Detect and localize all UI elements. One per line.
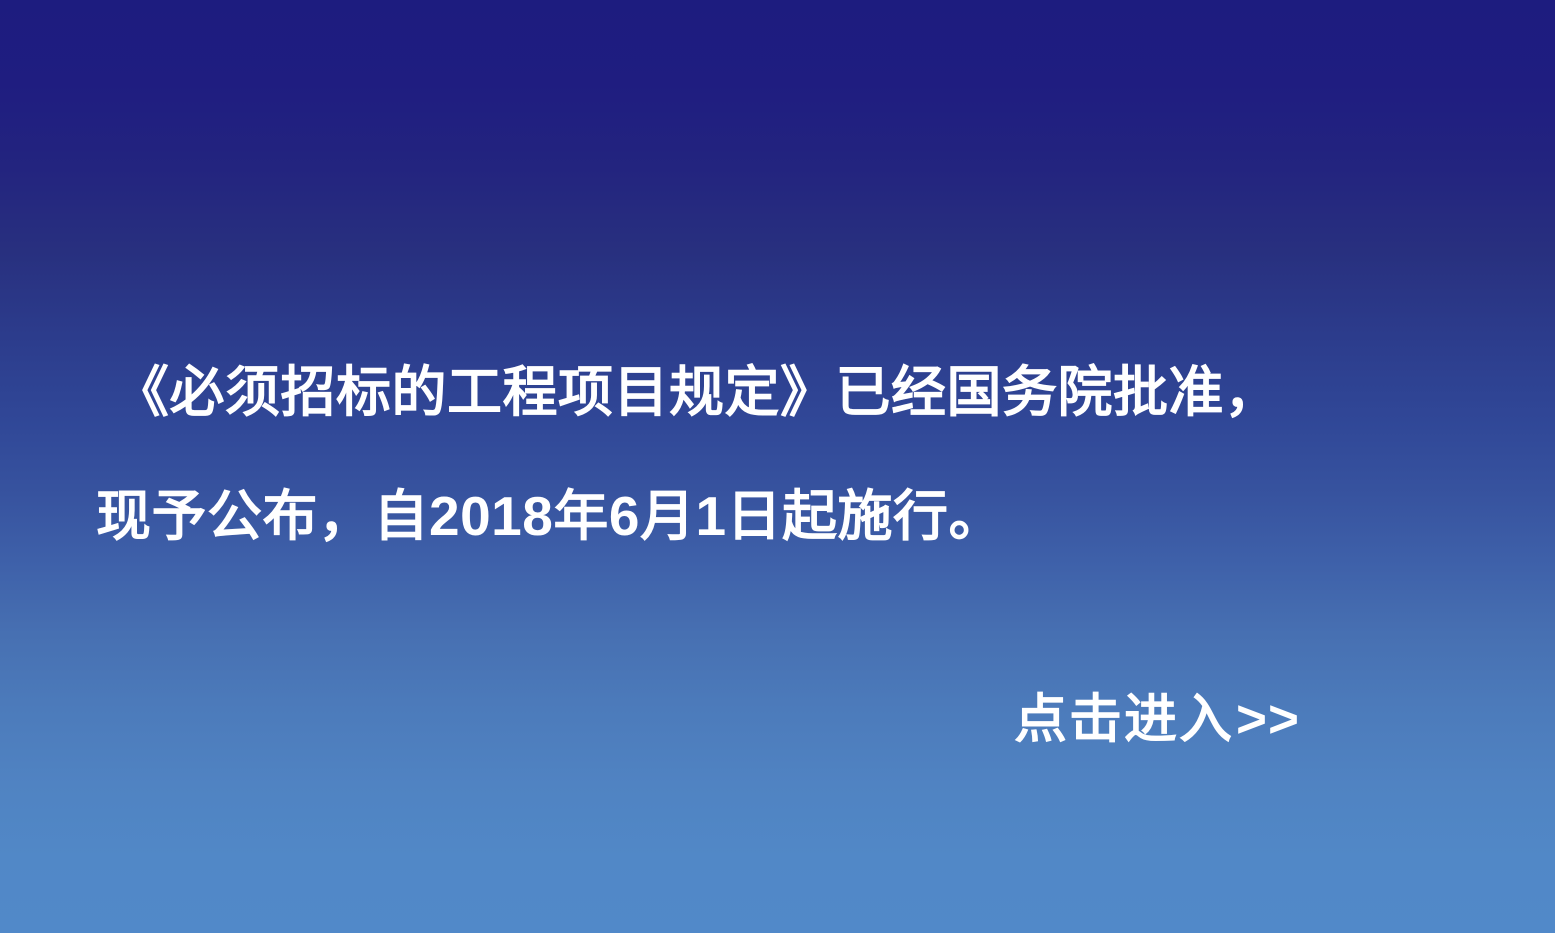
double-chevron-right-icon: >> bbox=[1234, 690, 1300, 749]
headline-line-2: 现予公布，自2018年6月1日起施行。 bbox=[0, 454, 1555, 578]
headline-line-1: 《必须招标的工程项目规定》已经国务院批准， bbox=[0, 330, 1555, 454]
enter-link-label: 点击进入 bbox=[1014, 690, 1234, 749]
announcement-banner: 《必须招标的工程项目规定》已经国务院批准， 现予公布，自2018年6月1日起施行… bbox=[0, 0, 1555, 933]
cta-row: 点击进入>> bbox=[0, 686, 1555, 754]
enter-link[interactable]: 点击进入>> bbox=[1014, 686, 1300, 754]
headline-block: 《必须招标的工程项目规定》已经国务院批准， 现予公布，自2018年6月1日起施行… bbox=[0, 330, 1555, 578]
